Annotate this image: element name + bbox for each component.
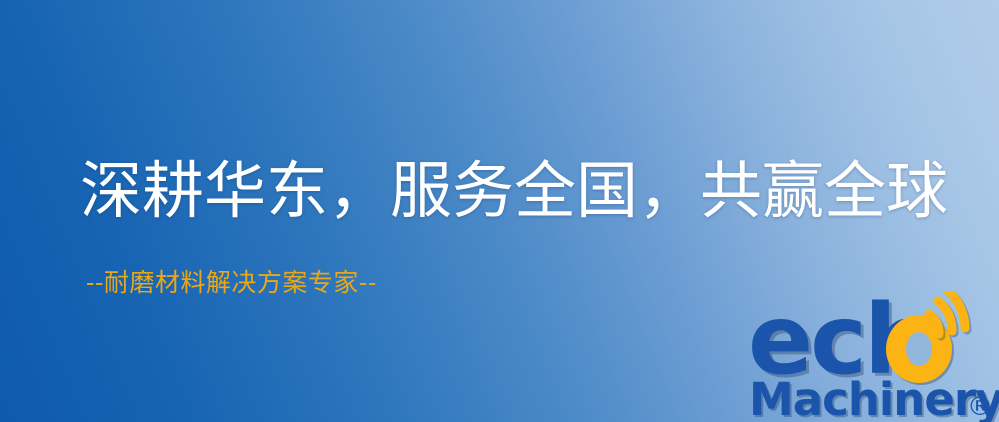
logo-signal-waves-icon [929,292,967,336]
banner-subtitle: --耐磨材料解决方案专家-- [86,266,377,300]
logo-registered-trademark-icon: ® [967,392,993,422]
echo-machinery-logo[interactable]: ech ech Machinery Machinery [745,292,999,422]
promo-banner: 深耕华东，服务全国，共赢全球 --耐磨材料解决方案专家-- ech ech [0,0,999,422]
banner-headline: 深耕华东，服务全国，共赢全球 [80,152,948,230]
logo-tagline-machinery: Machinery [749,373,999,422]
